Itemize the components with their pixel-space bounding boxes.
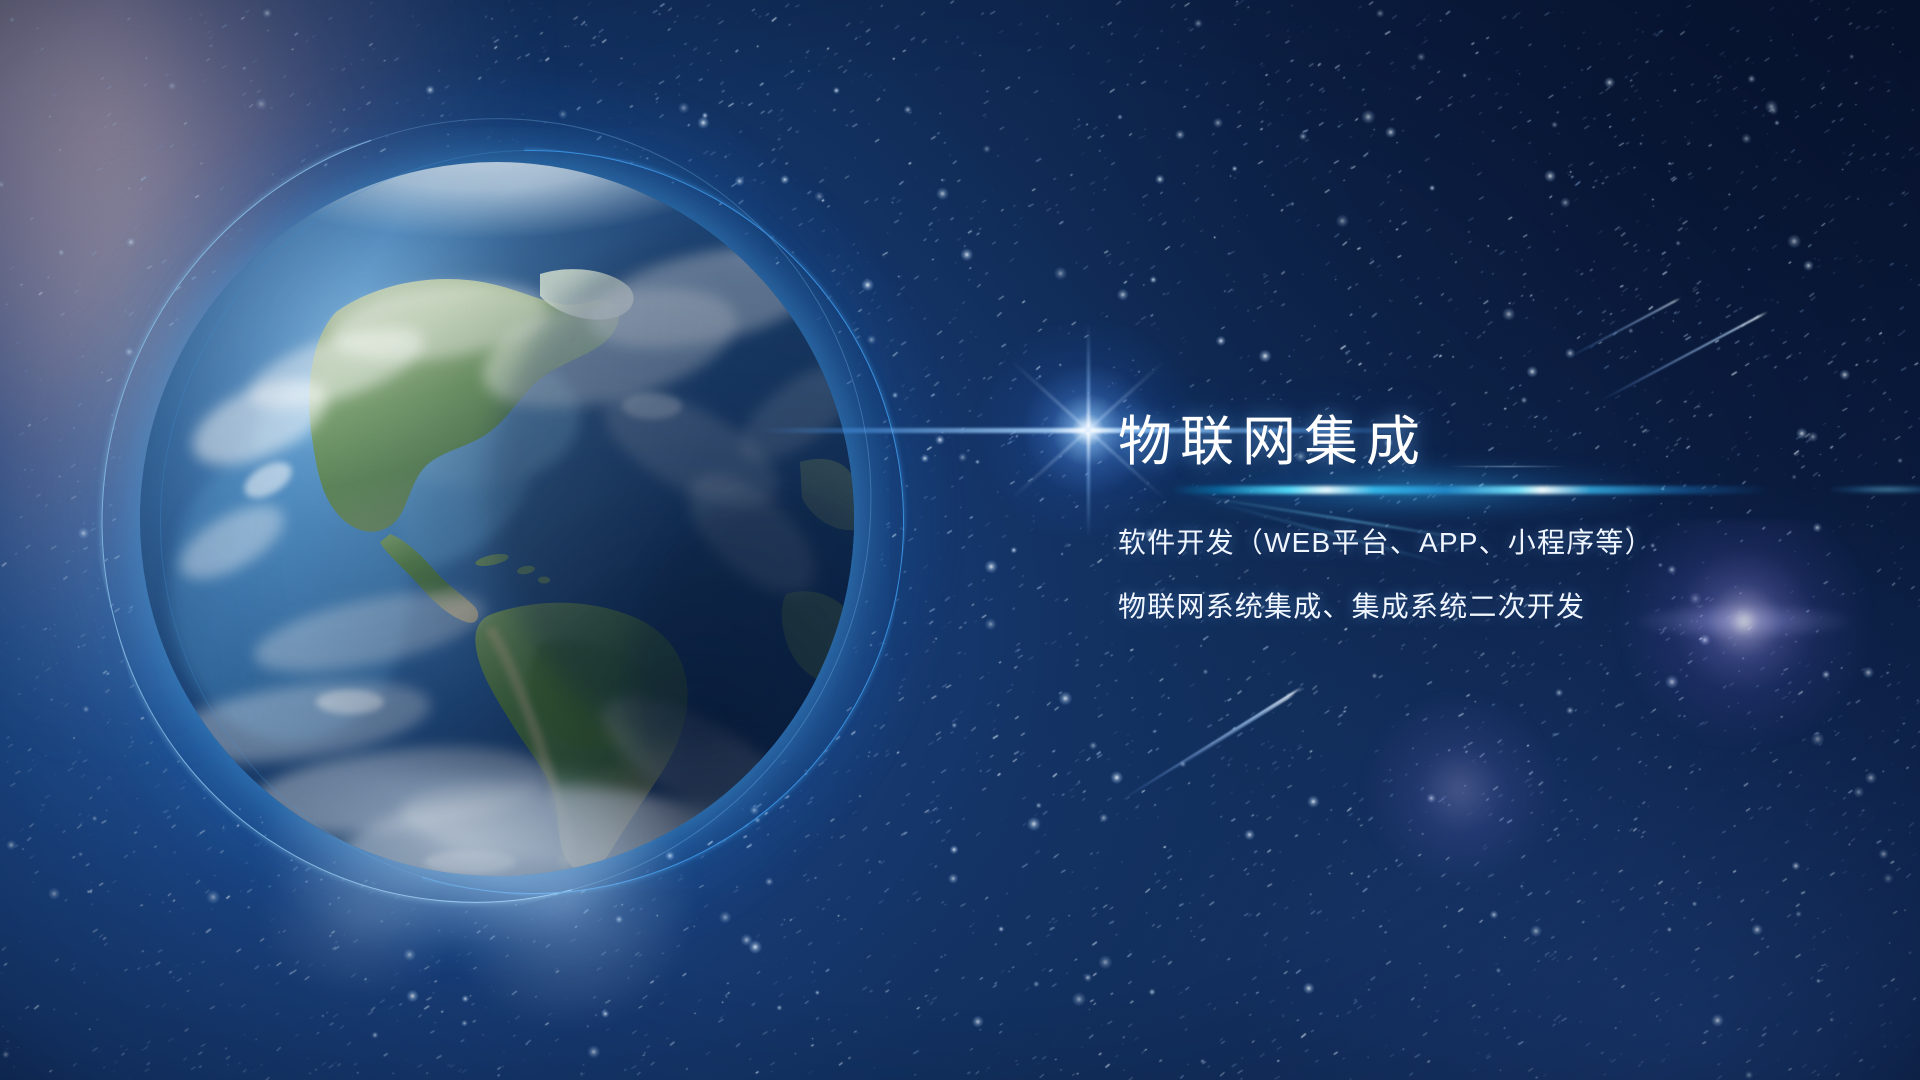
page-title: 物联网集成 xyxy=(1118,414,1878,471)
hero-subtitle-line-2: 物联网系统集成、集成系统二次开发 xyxy=(1118,593,1878,621)
globe-surface xyxy=(140,162,854,876)
hero-copy: 物联网集成 软件开发（WEB平台、APP、小程序等） 物联网系统集成、集成系统二… xyxy=(1118,414,1878,621)
earth-globe xyxy=(140,162,854,876)
hero-subtitle-line-1: 软件开发（WEB平台、APP、小程序等） xyxy=(1118,529,1878,557)
hero-banner: 物联网集成 软件开发（WEB平台、APP、小程序等） 物联网系统集成、集成系统二… xyxy=(0,0,1920,1080)
